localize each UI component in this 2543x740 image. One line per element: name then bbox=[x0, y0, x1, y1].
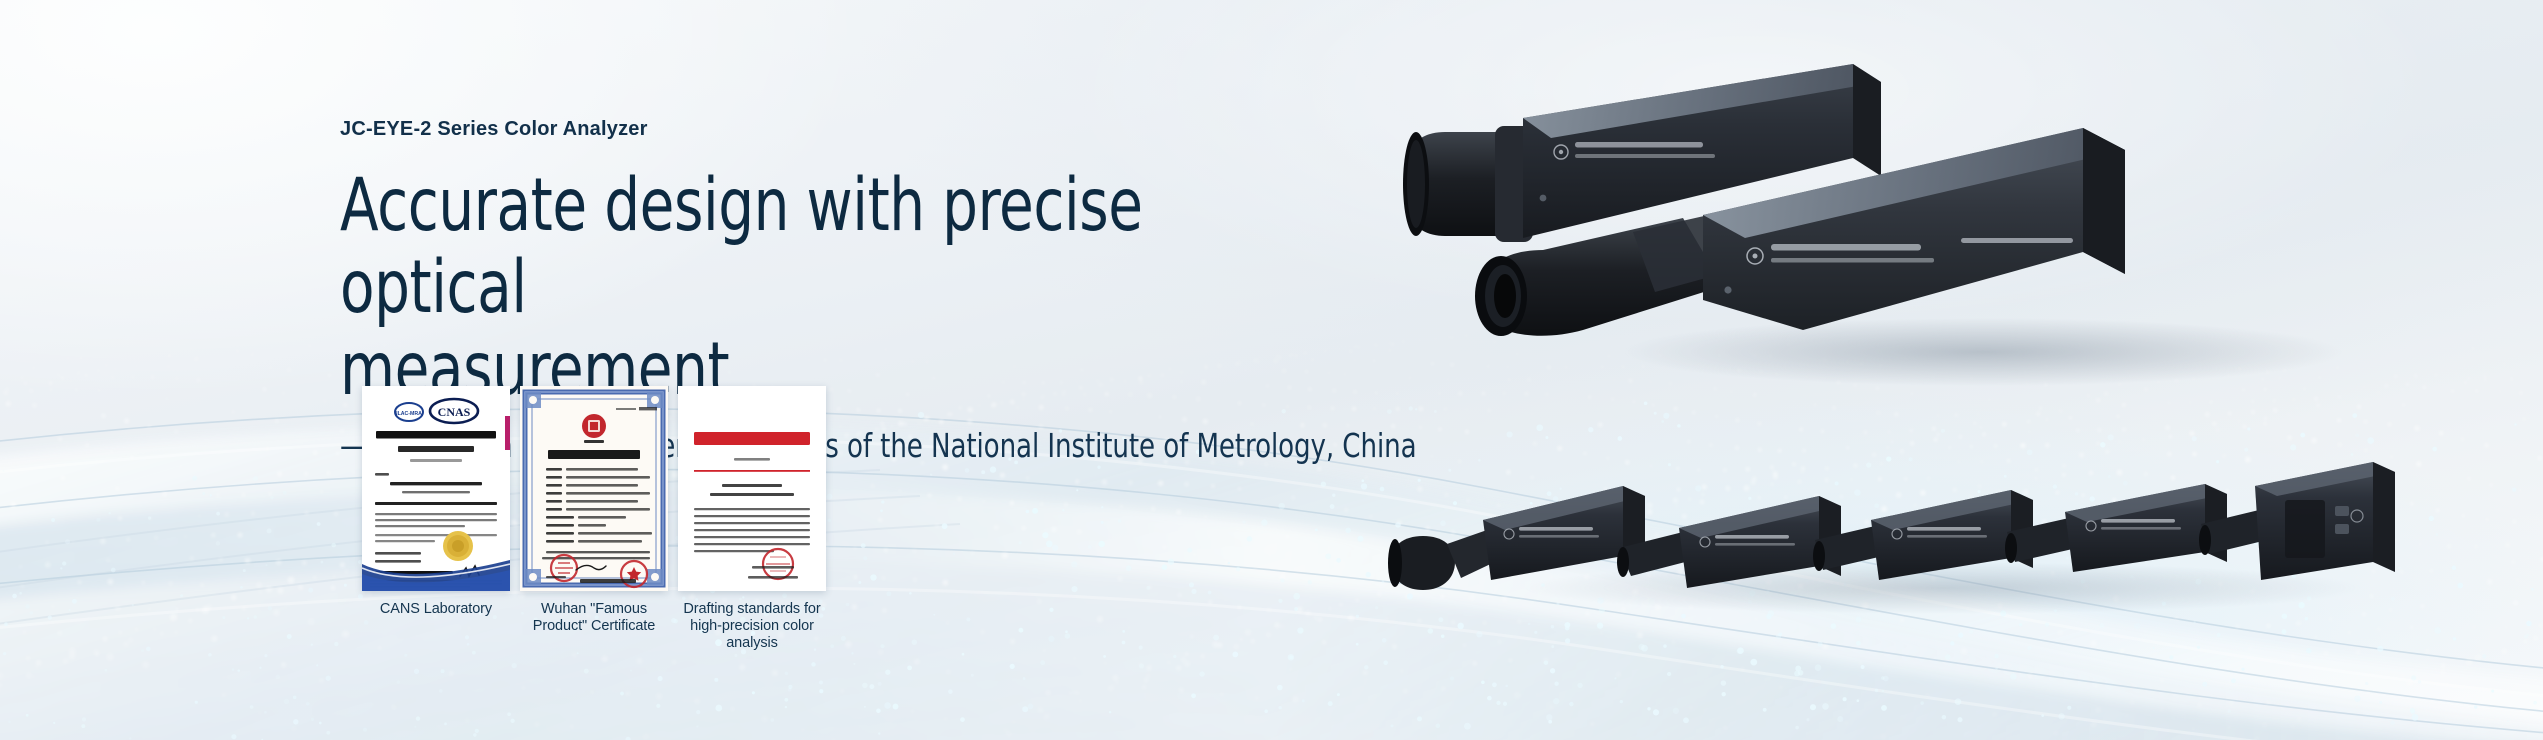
product-hero-banner: JC-EYE-2 Series Color Analyzer Accurate … bbox=[0, 0, 2543, 740]
certificate-thumbnail-famous-product[interactable] bbox=[520, 386, 668, 591]
analyzer-unit-back bbox=[1403, 64, 1881, 242]
probe-module-row bbox=[1388, 462, 2395, 590]
certificate-gallery: ILAC-MRA CNAS bbox=[362, 386, 826, 652]
product-photo-group bbox=[1383, 0, 2543, 740]
certificate-thumbnail-standards[interactable] bbox=[678, 386, 826, 591]
color-analyzer-devices bbox=[1383, 0, 2543, 740]
cnas-certificate-artwork: ILAC-MRA CNAS bbox=[362, 386, 510, 591]
certificate-item-cnas[interactable]: ILAC-MRA CNAS bbox=[362, 386, 510, 618]
certificate-item-standards[interactable]: Drafting standards for high-precision co… bbox=[678, 386, 826, 652]
certificate-caption-standards: Drafting standards for high-precision co… bbox=[678, 601, 826, 652]
certificate-item-famous-product[interactable]: Wuhan "Famous Product" Certificate bbox=[520, 386, 668, 635]
analyzer-unit-front bbox=[1475, 128, 2125, 336]
svg-text:ILAC-MRA: ILAC-MRA bbox=[396, 411, 422, 417]
certificate-caption-famous-product: Wuhan "Famous Product" Certificate bbox=[520, 601, 668, 635]
famous-product-certificate-artwork bbox=[520, 386, 668, 591]
standards-document-artwork bbox=[678, 386, 826, 591]
certificate-thumbnail-cnas[interactable]: ILAC-MRA CNAS bbox=[362, 386, 510, 591]
svg-text:CNAS: CNAS bbox=[438, 405, 471, 419]
page-title: Accurate design with precise optical mea… bbox=[340, 165, 1303, 410]
certificate-caption-cnas: CANS Laboratory bbox=[362, 601, 510, 618]
product-series-eyebrow: JC-EYE-2 Series Color Analyzer bbox=[340, 118, 1460, 141]
